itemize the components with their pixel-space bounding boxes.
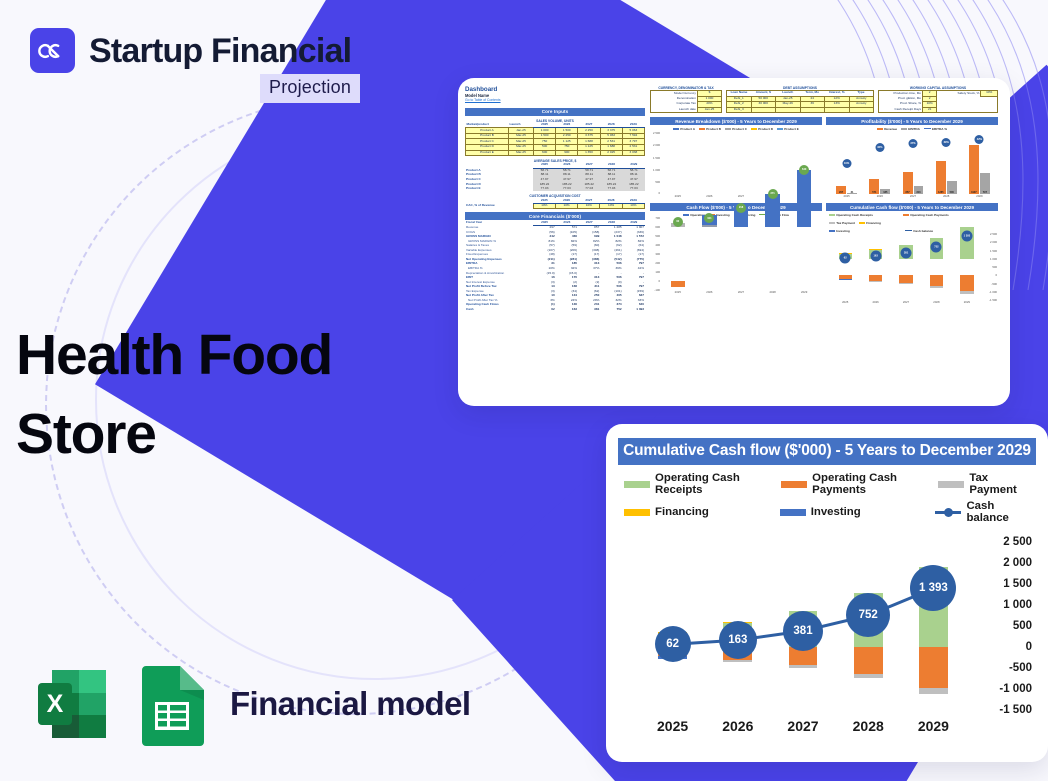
table-row: Cash Receipt Days21 xyxy=(879,107,998,113)
table-row: Product E77.0377.0377.0377.0377.03 xyxy=(465,187,645,192)
dashboard-title: Dashboard xyxy=(465,86,645,93)
chart-plot: 7006005004003002001000-100 6210121837164… xyxy=(650,218,822,290)
legend-item: Cash balance xyxy=(935,500,1034,524)
brand-badge: Projection xyxy=(260,74,360,103)
chart-legend: Product A Product B Product C Product D … xyxy=(650,125,822,132)
cumulative-cashflow-card: Cumulative Cash flow ($'000) - 5 Years t… xyxy=(606,424,1048,762)
table-row: Launch dateJan-25 xyxy=(651,107,722,113)
data-point-marker: 381 xyxy=(783,611,823,651)
cumulative-cashflow-mini-chart: Cumulative Cash flow ($'000) - 5 Years t… xyxy=(826,203,998,304)
x-axis: 2025 2026 2027 2028 2029 xyxy=(618,710,1036,734)
page-title: Health Food Store xyxy=(16,316,416,473)
core-financials-band: Core Financials ($'000) xyxy=(465,212,645,220)
chart-title: Cumulative Cash flow ($'000) - 5 Years t… xyxy=(618,438,1036,465)
legend-item: Operating Cash Receipts xyxy=(624,472,781,496)
table-row: CAC, % of Revenue10%10%10%10%10% xyxy=(465,203,645,209)
svg-text:X: X xyxy=(47,690,64,718)
currency-table: Model Currency$ Denomination1 000 Corpor… xyxy=(650,90,722,113)
table-row: Cash621633817521 393 xyxy=(465,308,645,313)
format-badges: X Financial model xyxy=(30,662,470,746)
data-point-marker: 163 xyxy=(719,621,757,659)
chart-legend: Operating Cash Receipts Operating Cash P… xyxy=(618,465,1036,530)
cash-flow-chart: Cash Flow ($'000) - 5 Years to December … xyxy=(650,203,822,304)
brand-logo: Startup Financial xyxy=(30,28,351,73)
chart-plot: 2 5002 0001 5001 0005000-500-1 000-1 500… xyxy=(618,542,1036,710)
chart-title: Revenue Breakdown ($'000) - 5 Years to D… xyxy=(650,117,822,125)
microsoft-excel-icon: X xyxy=(30,662,114,746)
currency-header: CURRENCY, DENOMINATOR & TAX xyxy=(650,86,722,90)
sales-volume-table: Market/product Launch 2025 2026 2027 202… xyxy=(465,123,645,156)
wc-table: Production time, Mo2Safety Stock, %10% P… xyxy=(878,90,998,113)
dashboard-preview-card: Dashboard Model Name Go to Table of Cont… xyxy=(458,78,1010,406)
legend-item: Operating Cash Payments xyxy=(781,472,938,496)
debt-table: Loan Name Amount, $ Launch Term, Mo Inte… xyxy=(726,90,874,113)
format-badge-label: Financial model xyxy=(230,685,470,723)
profitability-chart: Profitability ($'000) - 5 Years to Decem… xyxy=(826,117,998,198)
infinity-loop-icon xyxy=(30,28,75,73)
poster-canvas: Startup Financial Projection Health Food… xyxy=(0,0,1048,781)
brand-name: Startup Financial xyxy=(89,34,351,68)
avg-price-table: 2025 2026 2027 2028 2029 Product A58.715… xyxy=(465,163,645,191)
chart-title: Profitability ($'000) - 5 Years to Decem… xyxy=(826,117,998,125)
chart-plot: 2 5002 0001 5001 0005000-500-1 000-1 500… xyxy=(826,234,998,300)
legend-item: Investing xyxy=(780,500,936,524)
table-row: Debt_3 xyxy=(727,107,874,113)
cac-table: 2025 2026 2027 2028 2029 CAC, % of Reven… xyxy=(465,198,645,209)
legend-item: Financing xyxy=(624,500,780,524)
table-row: Product EMar-256009001 3502 0253 038 xyxy=(466,150,645,156)
core-financials-table: Fiscal Year 2025 2026 2027 2028 2029 Rev… xyxy=(465,220,645,312)
data-point-marker: 62 xyxy=(655,626,691,662)
google-sheets-icon xyxy=(136,662,208,746)
chart-legend: Revenue EBITDA EBITDA % xyxy=(826,125,998,132)
chart-plot: 2973110%57118532%85731337%128550639%1907… xyxy=(826,132,998,194)
core-inputs-band: Core Inputs xyxy=(465,108,645,116)
chart-title: Cumulative Cash flow ($'000) - 5 Years t… xyxy=(826,203,998,211)
y-axis: 2 5002 0001 5001 0005000-500-1 000-1 500 xyxy=(970,542,1036,710)
legend-item: Tax Payment xyxy=(938,472,1034,496)
